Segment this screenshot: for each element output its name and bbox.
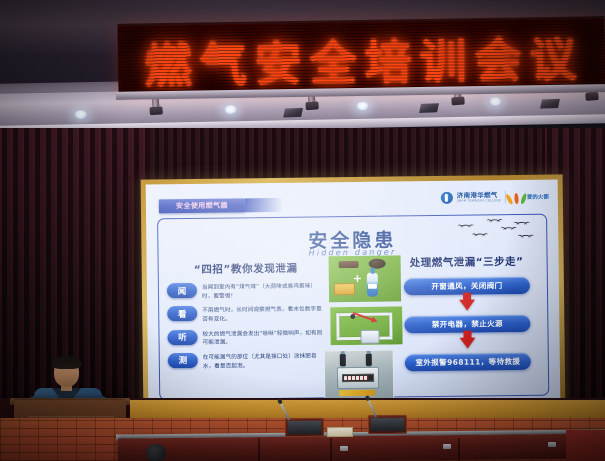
detergent-bottle-icon	[367, 273, 378, 297]
tip-row: 闻 当闻到室内有“煤气味”（大蒜味或臭鸡蛋味）时，要警惕！	[167, 281, 325, 301]
speaker-hair	[52, 356, 81, 369]
tip-text: 在可能漏气的部位（尤其是接口处）涂抹肥皂水，看是否起泡。	[203, 351, 326, 371]
downlight	[224, 105, 237, 114]
tip-text: 当闻到室内有“煤气味”（大蒜味或臭鸡蛋味）时，要警惕！	[202, 281, 325, 301]
desk-control-button	[340, 446, 348, 451]
tip-key-test: 测	[168, 353, 198, 368]
bird-icon	[474, 233, 485, 240]
bird-icon	[503, 227, 514, 234]
desk-control-button	[548, 442, 556, 447]
badge-text: 爱的火都	[527, 193, 549, 201]
floor-carpet	[566, 430, 605, 461]
tip-row: 测 在可能漏气的部位（尤其是接口处）涂抹肥皂水，看是否起泡。	[168, 351, 326, 371]
gas-meter-icon	[360, 330, 379, 344]
desk-monitor	[285, 418, 324, 437]
desk-control-button	[443, 444, 451, 449]
meter-digits	[342, 374, 374, 382]
company-logo: 济南港华燃气 JINAN TOWNGAS COLLEGE 爱的火都	[441, 188, 549, 207]
conference-hall-photo: 燃气安全培训会议 安全使用燃气器 济南港华燃气 JINAN TOWNGAS CO…	[0, 0, 605, 461]
bird-icon	[460, 225, 471, 232]
ceiling-vent	[419, 103, 439, 113]
gas-meter-photo	[324, 350, 395, 401]
left-column: “四招”教你发现泄漏 闻 当闻到室内有“煤气味”（大蒜味或臭鸡蛋味）时，要警惕！…	[167, 260, 326, 376]
bird-icon	[516, 222, 527, 229]
desk-nameplate	[327, 427, 353, 437]
downlight	[356, 102, 369, 111]
desk-speaker-grille	[146, 444, 166, 461]
leaves-icon	[510, 190, 525, 203]
desk-panel-seam	[458, 438, 460, 461]
ceiling-vent	[283, 108, 303, 118]
step-3-pill: 室外报警968111，等待救援	[405, 353, 531, 372]
tip-row: 听 较大的燃气泄漏会发出“咝咝”轻微响声，如有则可能泄漏。	[167, 328, 325, 348]
presentation-slide: 安全使用燃气器 济南港华燃气 JINAN TOWNGAS COLLEGE 爱的火…	[146, 179, 561, 406]
ceiling-vent	[540, 99, 560, 109]
down-arrow-icon	[460, 338, 476, 349]
tip-key-smell: 闻	[167, 283, 197, 298]
gas-flame-logo-icon	[441, 192, 453, 204]
conference-desk	[118, 433, 605, 461]
slide-section-tab: 安全使用燃气器	[159, 198, 245, 213]
valve-icon	[366, 354, 372, 366]
right-column: 处理燃气泄漏“三步走” 开窗通风，关闭阀门 禁开电器，禁止火源 室外报警9681…	[391, 254, 544, 372]
tip-text: 较大的燃气泄漏会发出“咝咝”轻微响声，如有则可能泄漏。	[202, 328, 325, 348]
tip-text: 不用燃气时，长时间观察燃气表，看末位数字是否有变化。	[202, 305, 325, 325]
meter-body	[337, 367, 379, 390]
left-column-heading: “四招”教你发现泄漏	[167, 260, 325, 277]
projection-screen-frame: 安全使用燃气器 济南港华燃气 JINAN TOWNGAS COLLEGE 爱的火…	[141, 174, 566, 411]
right-column-heading: 处理燃气泄漏“三步走”	[391, 254, 543, 271]
birds-decoration	[458, 218, 532, 249]
bird-icon	[489, 219, 500, 226]
valve-icon	[340, 354, 346, 366]
meter-warning-label	[339, 390, 375, 396]
downlight	[74, 110, 87, 119]
bird-icon	[520, 235, 531, 242]
projection-screen: 安全使用燃气器 济南港华燃气 JINAN TOWNGAS COLLEGE 爱的火…	[146, 179, 561, 406]
company-name-en: JINAN TOWNGAS COLLEGE	[457, 199, 501, 204]
downlight	[489, 97, 502, 106]
desk-monitor	[368, 415, 407, 434]
pipe-segment	[336, 313, 339, 339]
desk-panel-seam	[258, 438, 260, 461]
slide-section-tab-tail	[245, 198, 283, 212]
soap-bar-icon	[339, 261, 359, 268]
tip-row: 看 不用燃气时，长时间观察燃气表，看末位数字是否有变化。	[167, 305, 325, 325]
desk-panel-seam	[330, 438, 332, 461]
tip-key-look: 看	[167, 306, 197, 321]
tip-key-listen: 听	[167, 330, 197, 345]
secondary-badge: 爱的火都	[510, 190, 549, 203]
down-arrow-icon	[459, 300, 475, 311]
soap-box-icon	[334, 283, 355, 295]
